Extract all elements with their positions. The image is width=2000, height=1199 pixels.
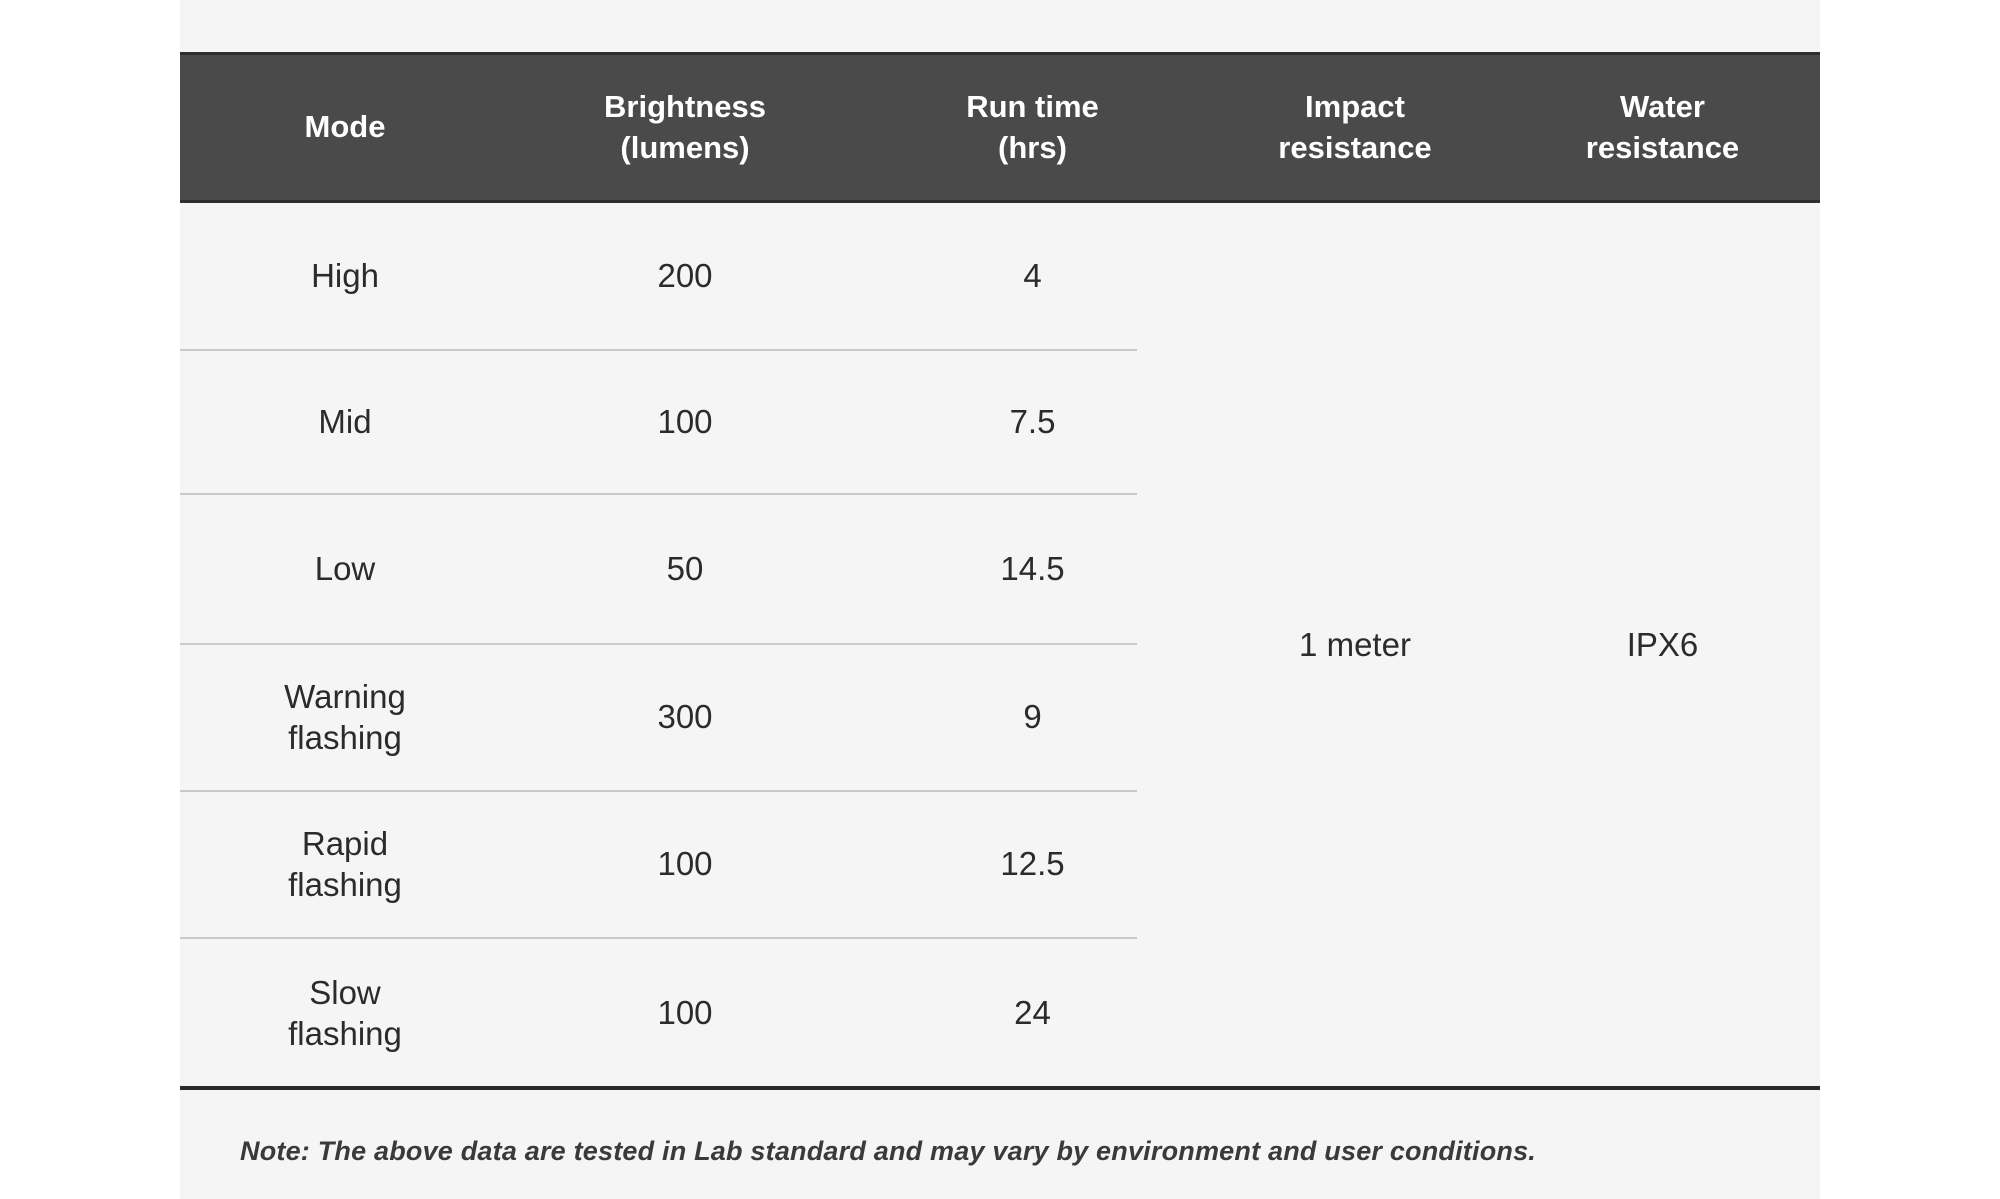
cell-mode: Slow flashing: [180, 973, 510, 1054]
cell-brightness: 200: [510, 256, 860, 296]
cell-mode-line1: Low: [180, 549, 510, 589]
cell-brightness: 50: [510, 549, 860, 589]
cell-mode-line2: flashing: [180, 718, 510, 758]
cell-brightness: 300: [510, 697, 860, 737]
cell-mode-line1: Mid: [180, 402, 510, 442]
cell-impact-resistance: 1 meter: [1205, 203, 1505, 1088]
table-body: High 200 4 Mid 100 7.5 Low 50 14.5: [180, 203, 1820, 1088]
column-header-water-line2: resistance: [1505, 128, 1820, 168]
column-header-impact-line1: Impact: [1205, 87, 1505, 127]
cell-mode: Rapid flashing: [180, 824, 510, 905]
cell-runtime: 4: [860, 256, 1205, 296]
cell-impact-line2: meter: [1327, 626, 1411, 663]
cell-impact-line1: 1: [1299, 626, 1317, 663]
cell-runtime: 14.5: [860, 549, 1205, 589]
column-header-runtime-line1: Run time: [860, 87, 1205, 127]
cell-brightness: 100: [510, 844, 860, 884]
cell-brightness: 100: [510, 993, 860, 1033]
column-header-impact-resistance: Impact resistance: [1205, 87, 1505, 168]
cell-mode-line2: flashing: [180, 1014, 510, 1054]
cell-mode-line1: Slow: [180, 973, 510, 1013]
column-header-water-line1: Water: [1505, 87, 1820, 127]
column-header-mode-line1: Mode: [180, 107, 510, 147]
column-header-runtime: Run time (hrs): [860, 87, 1205, 168]
cell-mode: High: [180, 256, 510, 296]
column-header-mode: Mode: [180, 107, 510, 147]
cell-mode-line1: Warning: [180, 677, 510, 717]
table-header-row: Mode Brightness (lumens) Run time (hrs) …: [180, 52, 1820, 203]
cell-mode: Warning flashing: [180, 677, 510, 758]
table-bottom-rule: [180, 1086, 1820, 1090]
column-header-brightness-line2: (lumens): [510, 128, 860, 168]
cell-mode: Low: [180, 549, 510, 589]
cell-mode-line1: High: [180, 256, 510, 296]
column-header-brightness: Brightness (lumens): [510, 87, 860, 168]
cell-runtime: 9: [860, 697, 1205, 737]
cell-brightness: 100: [510, 402, 860, 442]
column-header-runtime-line2: (hrs): [860, 128, 1205, 168]
column-header-impact-line2: resistance: [1205, 128, 1505, 168]
cell-runtime: 7.5: [860, 402, 1205, 442]
table-note: Note: The above data are tested in Lab s…: [240, 1136, 1536, 1167]
cell-runtime: 12.5: [860, 844, 1205, 884]
cell-water-resistance: IPX6: [1505, 203, 1820, 1088]
cell-water-line1: IPX6: [1627, 626, 1699, 663]
cell-runtime: 24: [860, 993, 1205, 1033]
column-header-brightness-line1: Brightness: [510, 87, 860, 127]
cell-mode-line1: Rapid: [180, 824, 510, 864]
cell-mode: Mid: [180, 402, 510, 442]
column-header-water-resistance: Water resistance: [1505, 87, 1820, 168]
spec-table-page: Mode Brightness (lumens) Run time (hrs) …: [0, 0, 2000, 1199]
cell-mode-line2: flashing: [180, 865, 510, 905]
